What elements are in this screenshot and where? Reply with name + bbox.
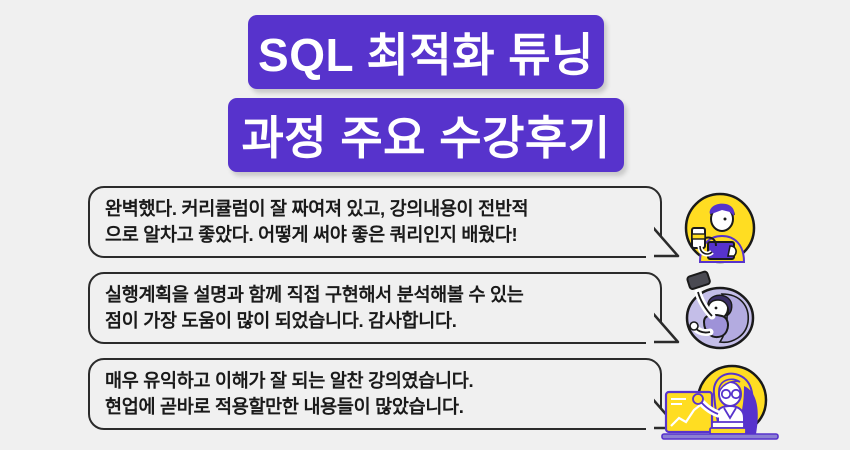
review-speech-bubble: 매우 유익하고 이해가 잘 되는 알찬 강의였습니다. 현업에 곧바로 적용할만… [88,358,662,430]
review-item: 매우 유익하고 이해가 잘 되는 알찬 강의였습니다. 현업에 곧바로 적용할만… [0,358,850,442]
avatar-person-lying-with-phone [672,270,760,358]
review-text-line-1: 매우 유익하고 이해가 잘 되는 알찬 강의였습니다. [105,368,660,394]
page-title-line-2: 과정 주요 수강후기 [228,98,624,172]
page-title-line-1: SQL 최적화 튜닝 [248,15,604,89]
avatar-person-with-coffee-and-laptop [672,184,760,272]
review-item: 완벽했다. 커리큘럼이 잘 짜여져 있고, 강의내용이 전반적 으로 알차고 좋… [0,186,850,270]
review-speech-bubble: 완벽했다. 커리큘럼이 잘 짜여져 있고, 강의내용이 전반적 으로 알차고 좋… [88,186,662,258]
review-item: 실행계획을 설명과 함께 직접 구현해서 분석해볼 수 있는 점이 가장 도움이… [0,272,850,356]
review-text-line-2: 현업에 곧바로 적용할만한 내용들이 많았습니다. [105,394,660,420]
review-text-line-1: 완벽했다. 커리큘럼이 잘 짜여져 있고, 강의내용이 전반적 [105,196,660,222]
review-text-line-2: 으로 알차고 좋았다. 어떻게 써야 좋은 쿼리인지 배웠다! [105,222,660,248]
review-text-line-1: 실행계획을 설명과 함께 직접 구현해서 분석해볼 수 있는 [105,282,660,308]
avatar-person-presenting-chart [660,356,780,448]
page-title-block: SQL 최적화 튜닝 과정 주요 수강후기 [0,0,850,180]
review-speech-bubble: 실행계획을 설명과 함께 직접 구현해서 분석해볼 수 있는 점이 가장 도움이… [88,272,662,344]
review-text-line-2: 점이 가장 도움이 많이 되었습니다. 감사합니다. [105,308,660,334]
